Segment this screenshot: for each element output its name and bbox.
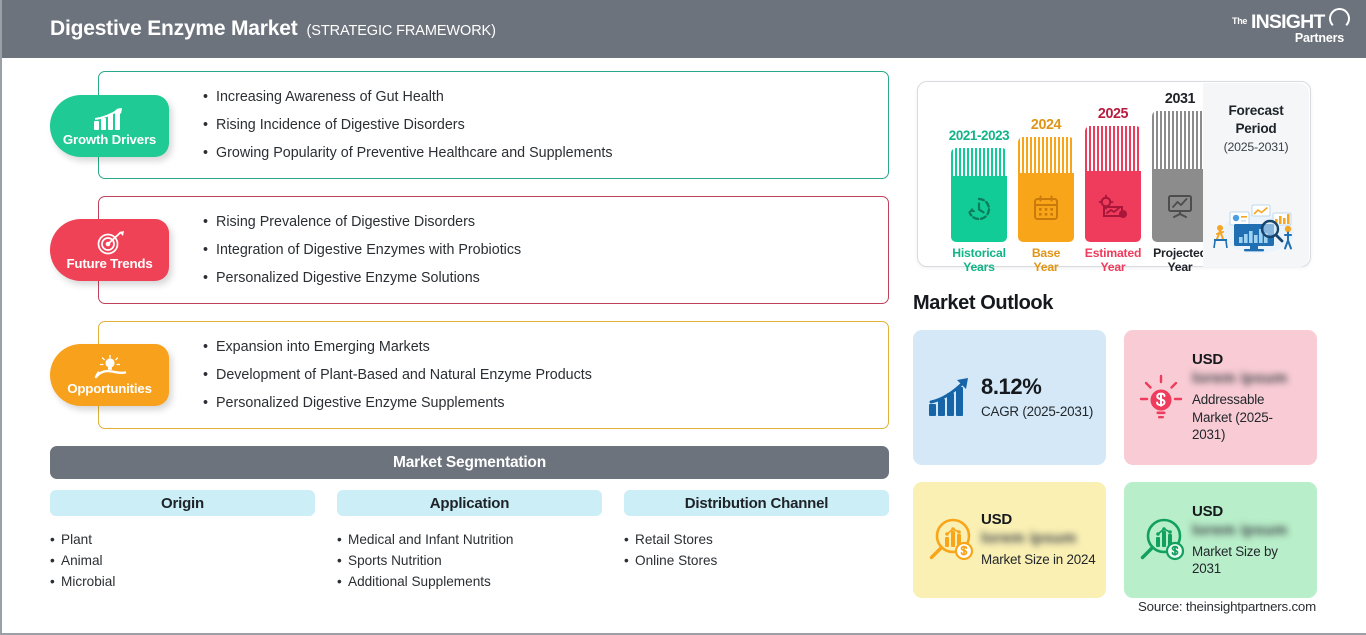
outlook-card-body: USD lorem ipsum Market Size in 2024 [981, 511, 1097, 569]
calendar-icon [1033, 195, 1059, 221]
forecast-bar-shape [951, 148, 1007, 242]
forecast-bar-year: 2021-2023 [948, 128, 1010, 143]
list-item: Plant [50, 530, 315, 551]
segmentation-column-application: Application Medical and Infant Nutrition… [337, 490, 602, 592]
list-item: Development of Plant-Based and Natural E… [203, 361, 592, 389]
list-item: Animal [50, 551, 315, 572]
forecast-caption-line2: Year [1168, 260, 1193, 274]
source-attribution: Source: theinsightpartners.com [1138, 599, 1316, 614]
circle-swoosh-icon [1329, 8, 1350, 29]
list-item: Increasing Awareness of Gut Health [203, 83, 613, 111]
forecast-period-line2: Period [1235, 121, 1276, 136]
outlook-card-cagr[interactable]: 8.12% CAGR (2025-2031) [913, 330, 1106, 465]
bullet-list: Expansion into Emerging Markets Developm… [203, 333, 592, 417]
magnifier-chart-dollar-icon [923, 515, 979, 565]
bullet-list: Rising Prevalence of Digestive Disorders… [203, 208, 521, 292]
outlook-card-market-size-2024[interactable]: USD lorem ipsum Market Size in 2024 [913, 482, 1106, 598]
list-item: Integration of Digestive Enzymes with Pr… [203, 236, 521, 264]
currency-label: USD [1192, 351, 1304, 368]
badge-label: Future Trends [66, 256, 152, 271]
forecast-bar-stripes [951, 148, 1007, 176]
forecast-period-line1: Forecast [1228, 103, 1283, 118]
forecast-bar-caption: Estimated Year [1082, 246, 1144, 274]
presentation-chart-icon [1166, 193, 1194, 219]
forecast-bar-fill [1085, 171, 1141, 242]
page-title-subtitle: (STRATEGIC FRAMEWORK) [307, 23, 496, 39]
outlook-card-label: Addressable Market (2025-2031) [1192, 391, 1304, 444]
outlook-card-label: Market Size in 2024 [981, 551, 1097, 569]
gear-chart-icon [1098, 194, 1128, 220]
badge-future-trends[interactable]: Future Trends [50, 219, 169, 281]
market-segmentation-title: Market Segmentation [393, 454, 546, 472]
market-segmentation-header: Market Segmentation [50, 446, 889, 479]
segmentation-column-distribution-channel: Distribution Channel Retail Stores Onlin… [624, 490, 889, 572]
forecast-bar-fill [1018, 173, 1074, 242]
magnifier-chart-dollar-icon [1134, 515, 1190, 565]
outlook-card-label: Market Size by 2031 [1192, 543, 1308, 578]
forecast-caption-line2: Year [1101, 260, 1126, 274]
lightbulb-hand-icon [93, 355, 127, 380]
badge-opportunities[interactable]: Opportunities [50, 344, 169, 406]
list-item: Online Stores [624, 551, 889, 572]
list-item: Rising Prevalence of Digestive Disorders [203, 208, 521, 236]
outlook-card-body: USD lorem ipsum Market Size by 2031 [1192, 503, 1308, 578]
outlook-card-market-size-2031[interactable]: USD lorem ipsum Market Size by 2031 [1124, 482, 1317, 598]
outlook-card-body: 8.12% CAGR (2025-2031) [981, 374, 1093, 421]
forecast-bar-shape [1018, 137, 1074, 242]
forecast-caption-line1: Estimated [1085, 246, 1141, 260]
list-item: Additional Supplements [337, 572, 602, 593]
currency-label: USD [981, 511, 1097, 528]
forecast-bars: 2021-2023 Historical Years [932, 82, 1192, 268]
segment-items: Plant Animal Microbial [50, 530, 315, 592]
forecast-bar-stripes [1085, 126, 1141, 171]
infographic-page: Digestive Enzyme Market(STRATEGIC FRAMEW… [0, 0, 1366, 635]
forecast-caption-line2: Year [1034, 260, 1059, 274]
segment-pill-application[interactable]: Application [337, 490, 602, 516]
clock-history-icon [965, 195, 993, 223]
list-item: Microbial [50, 572, 315, 593]
outlook-card-addressable-market[interactable]: USD lorem ipsum Addressable Market (2025… [1124, 330, 1317, 465]
list-item: Personalized Digestive Enzyme Solutions [203, 264, 521, 292]
cagr-label: CAGR (2025-2031) [981, 403, 1093, 421]
list-item: Retail Stores [624, 530, 889, 551]
market-outlook-title: Market Outlook [913, 292, 1053, 315]
forecast-bar-caption: Historical Years [948, 246, 1010, 274]
analytics-dashboard-illustration [1208, 193, 1304, 260]
forecast-period-panel: 2021-2023 Historical Years [917, 81, 1311, 267]
forecast-period-box: Forecast Period (2025-2031) [1203, 83, 1309, 267]
forecast-period-title: Forecast Period [1203, 102, 1309, 138]
forecast-bar-shape [1085, 126, 1141, 242]
section-panel-future-trends: Rising Prevalence of Digestive Disorders… [98, 196, 889, 304]
segment-pill-label: Distribution Channel [685, 495, 829, 512]
list-item: Sports Nutrition [337, 551, 602, 572]
page-header: Digestive Enzyme Market(STRATEGIC FRAMEW… [2, 0, 1366, 58]
logo-the-text: The [1232, 16, 1247, 26]
list-item: Growing Popularity of Preventive Healthc… [203, 139, 613, 167]
section-panel-growth-drivers: Increasing Awareness of Gut Health Risin… [98, 71, 889, 179]
segmentation-column-origin: Origin Plant Animal Microbial [50, 490, 315, 592]
forecast-bar-year: 2031 [1149, 91, 1211, 107]
segment-pill-distribution-channel[interactable]: Distribution Channel [624, 490, 889, 516]
forecast-caption-line2: Years [963, 260, 995, 274]
page-title-main: Digestive Enzyme Market [50, 17, 298, 40]
market-value-redacted: lorem ipsum [1192, 522, 1308, 540]
forecast-bar-stripes [1018, 137, 1074, 173]
brand-logo: The INSIGHT Partners [1230, 7, 1350, 51]
segment-pill-origin[interactable]: Origin [50, 490, 315, 516]
bullet-list: Increasing Awareness of Gut Health Risin… [203, 83, 613, 167]
currency-label: USD [1192, 503, 1308, 520]
forecast-bar-caption: Base Year [1015, 246, 1077, 274]
forecast-bar-shape [1152, 111, 1208, 242]
market-value-redacted: lorem ipsum [981, 530, 1097, 548]
list-item: Expansion into Emerging Markets [203, 333, 592, 361]
forecast-bar-caption: Projected Year [1149, 246, 1211, 274]
logo-partners-text: Partners [1295, 31, 1344, 45]
badge-label: Opportunities [67, 381, 152, 396]
list-item: Rising Incidence of Digestive Disorders [203, 111, 613, 139]
page-title: Digestive Enzyme Market(STRATEGIC FRAMEW… [50, 17, 496, 41]
lightbulb-dollar-icon [1134, 373, 1188, 423]
forecast-bar-stripes [1152, 111, 1208, 169]
badge-growth-drivers[interactable]: Growth Drivers [50, 95, 169, 157]
segment-pill-label: Origin [161, 495, 204, 512]
forecast-bar-year: 2025 [1082, 106, 1144, 122]
forecast-bar-fill [951, 176, 1007, 242]
target-dart-icon [95, 230, 125, 255]
forecast-bar-year: 2024 [1015, 117, 1077, 133]
section-panel-opportunities: Expansion into Emerging Markets Developm… [98, 321, 889, 429]
list-item: Medical and Infant Nutrition [337, 530, 602, 551]
forecast-caption-line1: Base [1032, 246, 1060, 260]
forecast-caption-line1: Historical [952, 246, 1006, 260]
forecast-bar-fill [1152, 169, 1208, 242]
outlook-card-body: USD lorem ipsum Addressable Market (2025… [1192, 351, 1304, 444]
cagr-value: 8.12% [981, 374, 1093, 400]
bar-chart-growth-icon [93, 106, 127, 131]
list-item: Personalized Digestive Enzyme Supplement… [203, 389, 592, 417]
segment-items: Retail Stores Online Stores [624, 530, 889, 572]
market-value-redacted: lorem ipsum [1192, 370, 1304, 388]
forecast-caption-line1: Projected [1153, 246, 1207, 260]
forecast-period-range: (2025-2031) [1203, 140, 1309, 154]
segment-pill-label: Application [430, 495, 509, 512]
bar-chart-arrow-icon [925, 378, 975, 418]
segment-items: Medical and Infant Nutrition Sports Nutr… [337, 530, 602, 592]
badge-label: Growth Drivers [63, 132, 156, 147]
